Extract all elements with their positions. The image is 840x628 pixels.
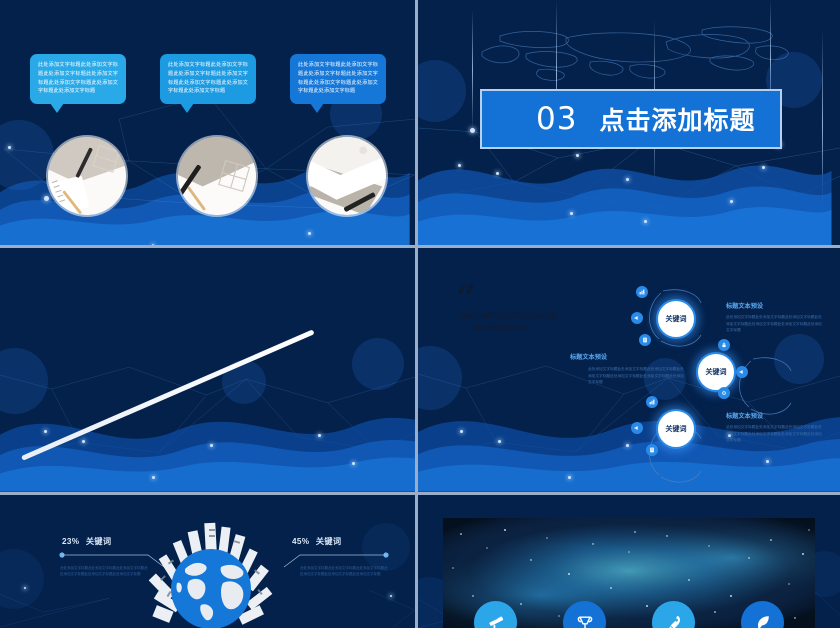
section-title-text: 点击添加标题 — [599, 101, 755, 137]
keyword-heading-1: 标题文本预设 — [726, 301, 763, 310]
chart-icon[interactable] — [646, 396, 658, 408]
keyword-label-3: 关键词 — [666, 424, 687, 434]
glow-dot — [82, 440, 85, 443]
glow-dot — [498, 440, 501, 443]
glow-dot — [8, 146, 11, 149]
glow-dot — [576, 154, 579, 157]
stat-body-right: 此处添加文字标题此处添加文字标题此处添加文字标题此处添加文字标题此处添加文字标题… — [300, 565, 388, 578]
keyword-circle-1[interactable]: 关键词 — [656, 299, 696, 339]
slide-thumbnail-globe[interactable]: 23% 关键词 此处添加文字标题此处添加文字标题此处添加文字标题此处添加文字标题… — [0, 495, 418, 628]
photo-notebook-pencil — [46, 135, 128, 217]
slide-thumbnail-bubbles[interactable]: 此处添加文字标题此处添加文字标题此处添加文字标题此处添加文字标题此处添加文字标题… — [0, 0, 418, 248]
speaker-icon[interactable] — [736, 366, 748, 378]
gear-icon[interactable] — [718, 387, 730, 399]
keyword-body-2: 此处添加文字标题此处添加文字标题此处添加文字标题此处添加文字标题此处添加文字标题… — [588, 366, 684, 386]
lock-icon[interactable] — [718, 339, 730, 351]
keyword-body-1: 此处添加文字标题此处添加文字标题此处添加文字标题此处添加文字标题此处添加文字标题… — [726, 314, 822, 334]
stat-value-left: 23% — [62, 537, 79, 546]
stat-label-left: 关键词 — [86, 537, 111, 546]
slide-thumbnail-timeline[interactable]: 标题文本预设 图片裁剪仿样本点题和方法 图片裁剪仿样本点题和方法 标题文本预设 … — [0, 248, 418, 495]
slide-thumbnail-galaxy[interactable] — [418, 495, 840, 628]
glow-dot — [318, 434, 321, 437]
document-icon[interactable] — [639, 334, 651, 346]
keyword-label-1: 关键词 — [666, 314, 687, 324]
glow-dot — [730, 200, 733, 203]
glow-dot — [626, 444, 629, 447]
keyword-heading-2: 标题文本预设 — [570, 352, 607, 361]
section-number: 03 — [536, 101, 577, 137]
speaker-icon[interactable] — [631, 312, 643, 324]
section-title-bar[interactable]: 03 点击添加标题 — [480, 89, 782, 149]
keyword-label-2: 关键词 — [706, 367, 727, 377]
glow-dot — [496, 172, 499, 175]
slide-thumbnail-title[interactable]: 03 点击添加标题 — [418, 0, 840, 248]
glow-dot — [152, 244, 154, 245]
chart-icon[interactable] — [636, 286, 648, 298]
slide-thumbnail-grid: 此处添加文字标题此处添加文字标题此处添加文字标题此处添加文字标题此处添加文字标题… — [0, 0, 840, 628]
keyword-heading-3: 标题文本预设 — [726, 411, 763, 420]
glow-dot — [152, 476, 155, 479]
stat-percent-left: 23% 关键词 — [62, 535, 111, 547]
stat-percent-right: 45% 关键词 — [292, 535, 341, 547]
stat-label-right: 关键词 — [316, 537, 341, 546]
quote-mark-icon: “ — [456, 281, 476, 315]
glow-dot — [470, 128, 475, 133]
quote-line-2: （建议使用主题字体） — [468, 323, 534, 336]
glow-dot — [352, 462, 355, 465]
glow-dot — [308, 232, 311, 235]
quote-line-1: 此部分内容作为文字描述占位显示 — [459, 311, 558, 324]
keyword-circle-2[interactable]: 关键词 — [696, 352, 736, 392]
speaker-icon[interactable] — [631, 422, 643, 434]
glow-dot — [570, 212, 573, 215]
glow-dot — [626, 178, 629, 181]
keyword-body-3: 此处添加文字标题此处添加文字标题此处添加文字标题此处添加文字标题此处添加文字标题… — [726, 424, 822, 444]
text-bubble-2[interactable]: 此处添加文字标题此处添加文字标题此处添加文字标题此处添加文字标题此处添加文字标题… — [160, 54, 256, 104]
text-bubble-3[interactable]: 此处添加文字标题此处添加文字标题此处添加文字标题此处添加文字标题此处添加文字标题… — [290, 54, 386, 104]
glow-dot — [44, 430, 47, 433]
glow-dot — [460, 430, 463, 433]
stat-value-right: 45% — [292, 537, 309, 546]
photo-folder-pen — [306, 135, 388, 217]
glow-dot — [568, 476, 571, 479]
globe-with-city-buildings — [133, 517, 289, 628]
keyword-circle-3[interactable]: 关键词 — [656, 409, 696, 449]
glow-dot — [210, 444, 213, 447]
bokeh-circle — [352, 338, 404, 390]
slide-thumbnail-keywords[interactable]: “ 此部分内容作为文字描述占位显示 （建议使用主题字体） — [418, 248, 840, 495]
photo-pen-documents — [176, 135, 258, 217]
text-bubble-1[interactable]: 此处添加文字标题此处添加文字标题此处添加文字标题此处添加文字标题此处添加文字标题… — [30, 54, 126, 104]
document-icon[interactable] — [646, 444, 658, 456]
glow-dot — [458, 164, 461, 167]
glow-dot — [762, 166, 765, 169]
glow-dot — [644, 220, 647, 223]
